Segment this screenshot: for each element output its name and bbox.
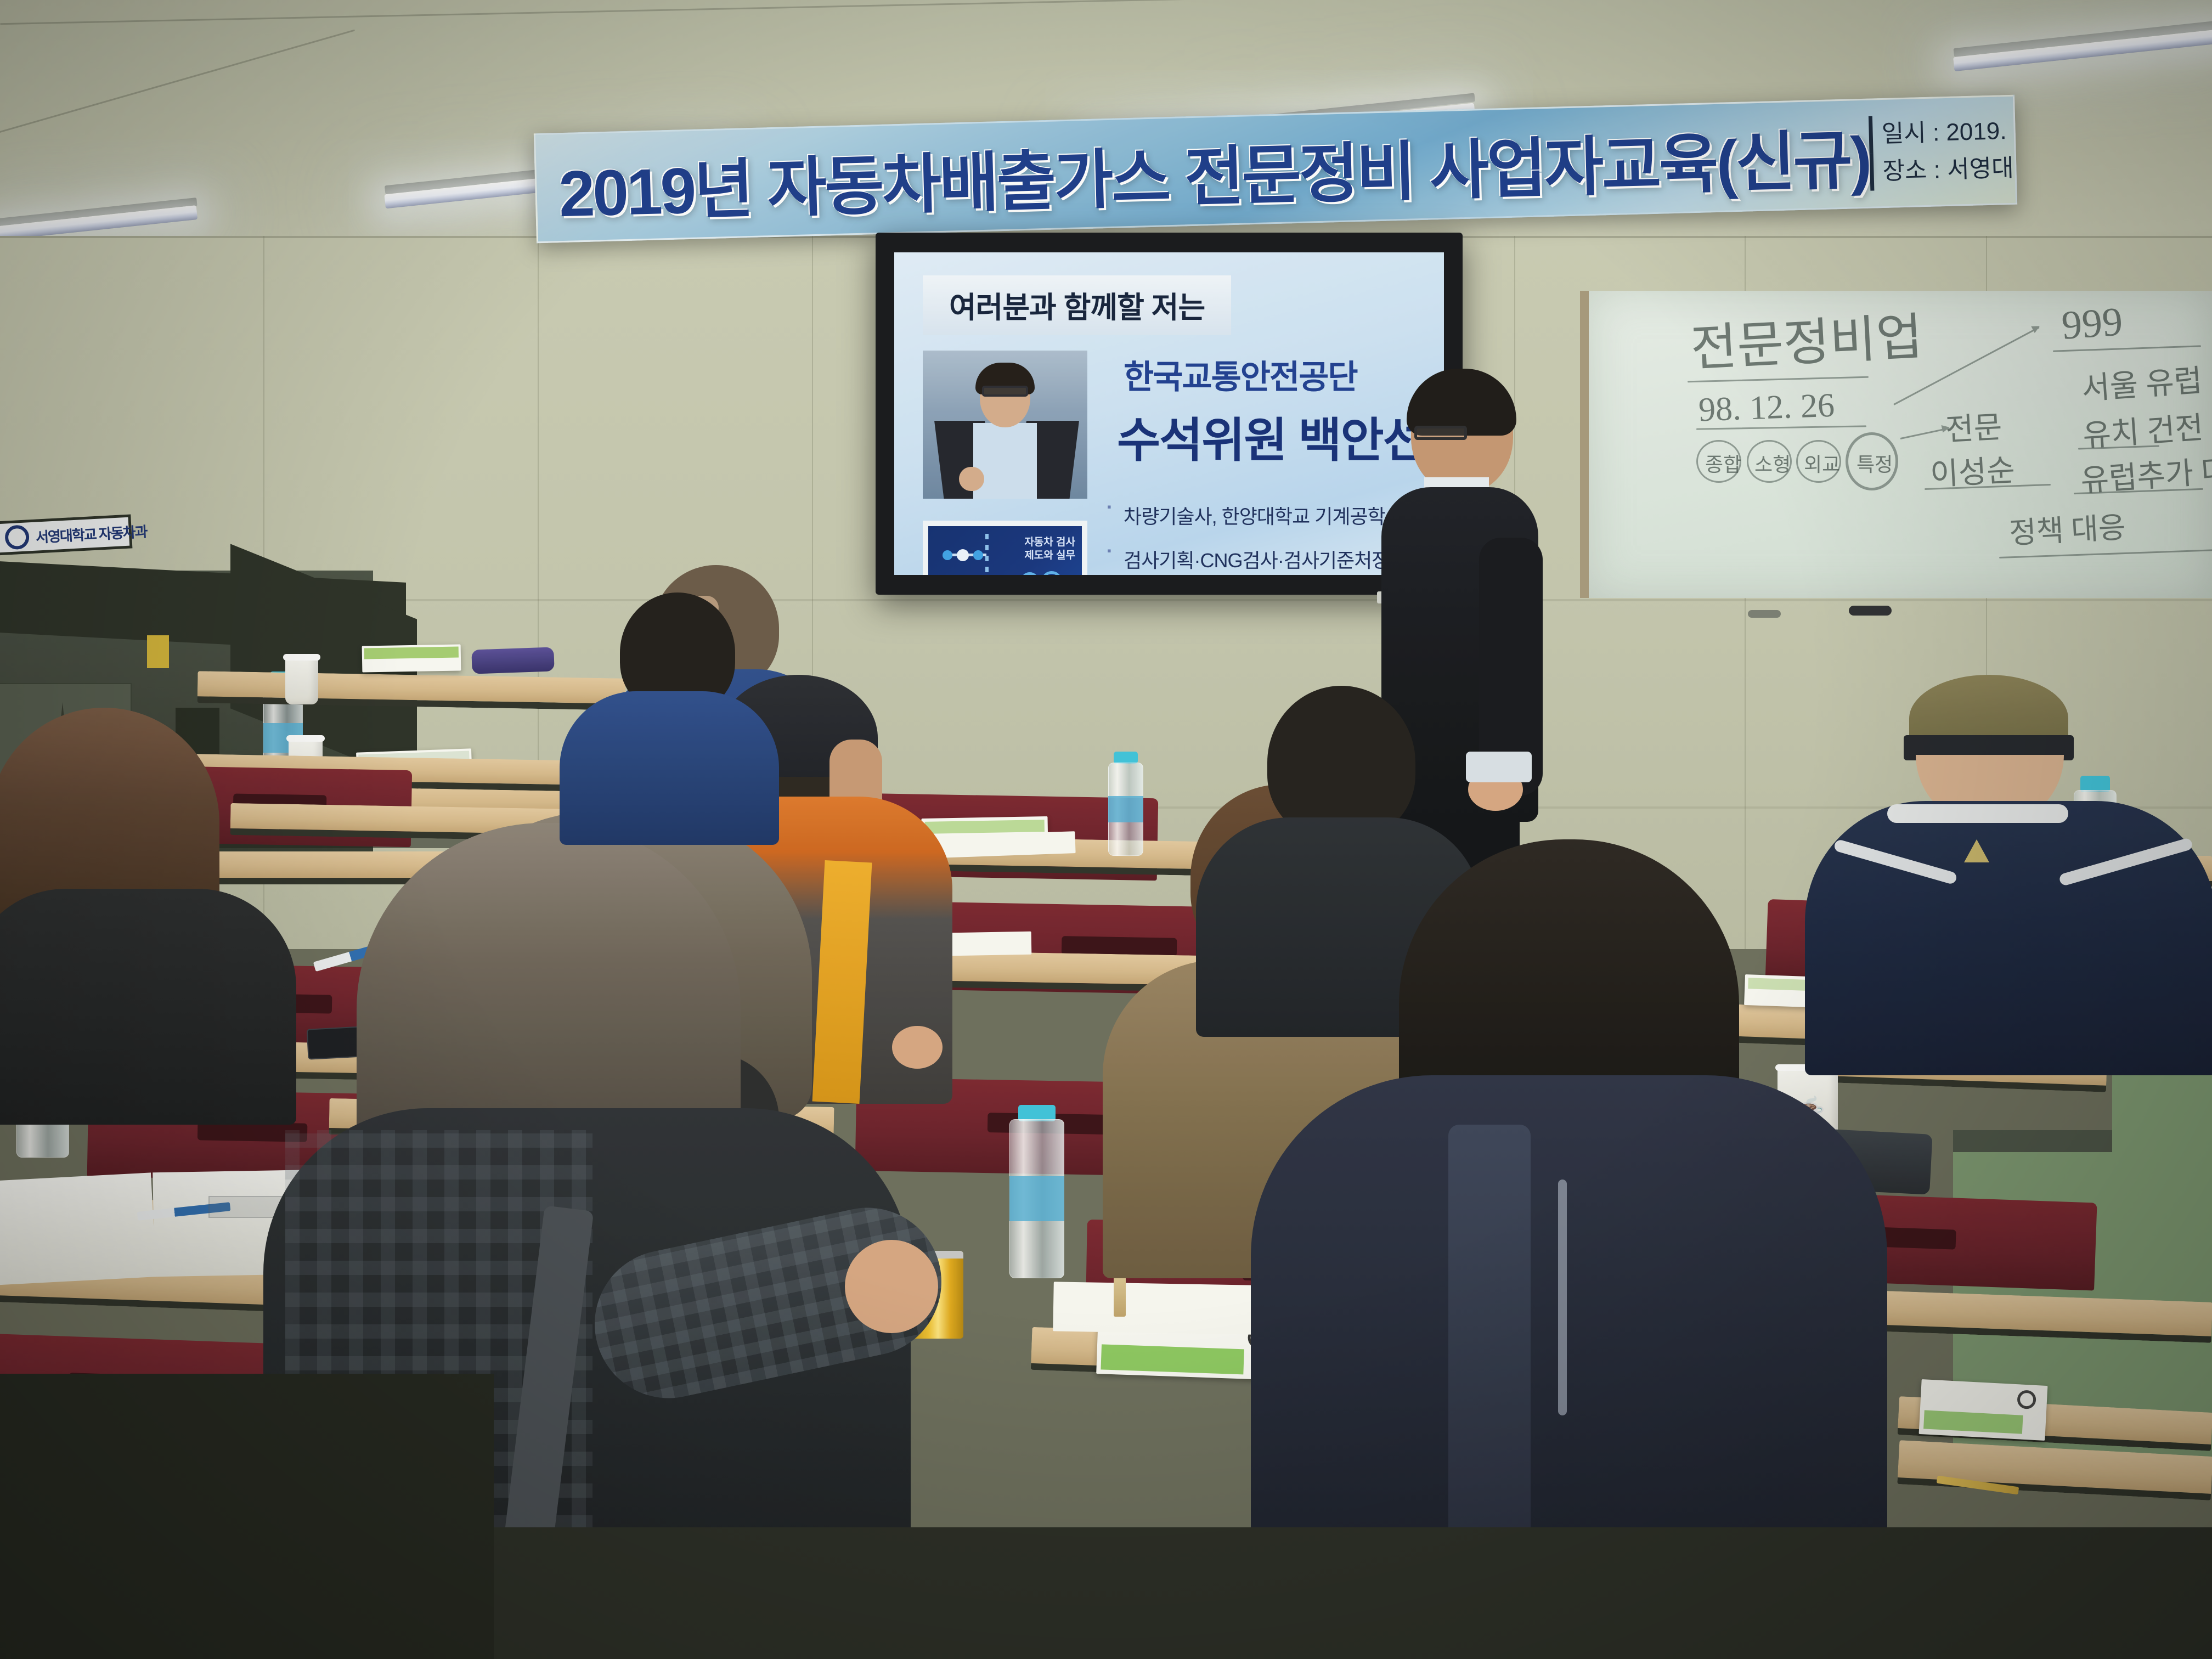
presentation-slide: 여러분과 함께할 저는	[894, 252, 1444, 575]
black-coat-body	[0, 889, 296, 1125]
glasses-icon	[1414, 426, 1467, 440]
department-sign-text: 서영대학교 자동차과	[35, 521, 147, 547]
floor-left	[0, 1374, 494, 1659]
whiteboard-note: 전문	[1944, 402, 2003, 449]
whiteboard-note: 서울 유럽	[2080, 356, 2203, 408]
lectern-label	[147, 635, 169, 668]
pencil-pouch-back[interactable]	[471, 647, 554, 674]
whiteboard-note: 999	[2060, 298, 2124, 349]
whiteboard-marker[interactable]	[1849, 606, 1892, 616]
presenter-portrait	[923, 351, 1087, 499]
seal-icon	[2017, 1390, 2036, 1409]
book-cover-title: 자동차 검사제도와 실무	[1024, 536, 1075, 562]
department-sign: 서영대학교 자동차과	[0, 515, 132, 556]
whiteboard-note: 전문정비업	[1689, 296, 1925, 381]
navy-jacket-body	[1805, 801, 2212, 1075]
whiteboard-eraser[interactable]	[1748, 610, 1781, 618]
booklet-on-desk[interactable]	[362, 644, 461, 672]
vest-inner-layer	[1448, 1125, 1531, 1591]
water-bottle-center[interactable]	[1009, 1119, 1064, 1278]
classroom-photo: 2019년 자동차배출가스 전문정비 사업자교육(신규) 일시 : 2019. …	[0, 0, 2212, 1659]
writing-hand	[845, 1240, 938, 1333]
whiteboard-note: 98. 12. 26	[1698, 386, 1835, 430]
slide-heading: 여러분과 함께할 저는	[923, 275, 1231, 335]
person-attendee-black-coat-left	[0, 708, 307, 1125]
whiteboard-note: 정책 대응	[2008, 503, 2126, 552]
paper-cup-left[interactable]	[285, 654, 318, 704]
dark-jacket-head	[1267, 686, 1415, 839]
banner-meta: 일시 : 2019. 11. 08 ~ 11. 09 장소 : 서영대학교 자동…	[1869, 108, 2017, 191]
banner-place: 장소 : 서영대학교 자동차관	[1870, 145, 2017, 191]
book-cover-thumbnail: 자동차 검사제도와 실무	[923, 521, 1087, 575]
whiteboard: 전문정비업 98. 12. 26 종합 소형 외교 특정 전문 이성순 999 …	[1580, 291, 2212, 598]
person-attendee-olive-cap	[1799, 675, 2212, 1092]
department-seal-icon	[4, 524, 30, 550]
jacket-collar-piping	[1887, 804, 2068, 823]
back-left-body	[560, 691, 779, 845]
person-attendee-back-left	[560, 592, 779, 845]
banner-date: 일시 : 2019. 11. 08 ~ 11. 09	[1869, 108, 2017, 154]
vest-zipper	[1558, 1180, 1567, 1415]
booklet-bottom-right[interactable]	[1919, 1379, 2048, 1441]
